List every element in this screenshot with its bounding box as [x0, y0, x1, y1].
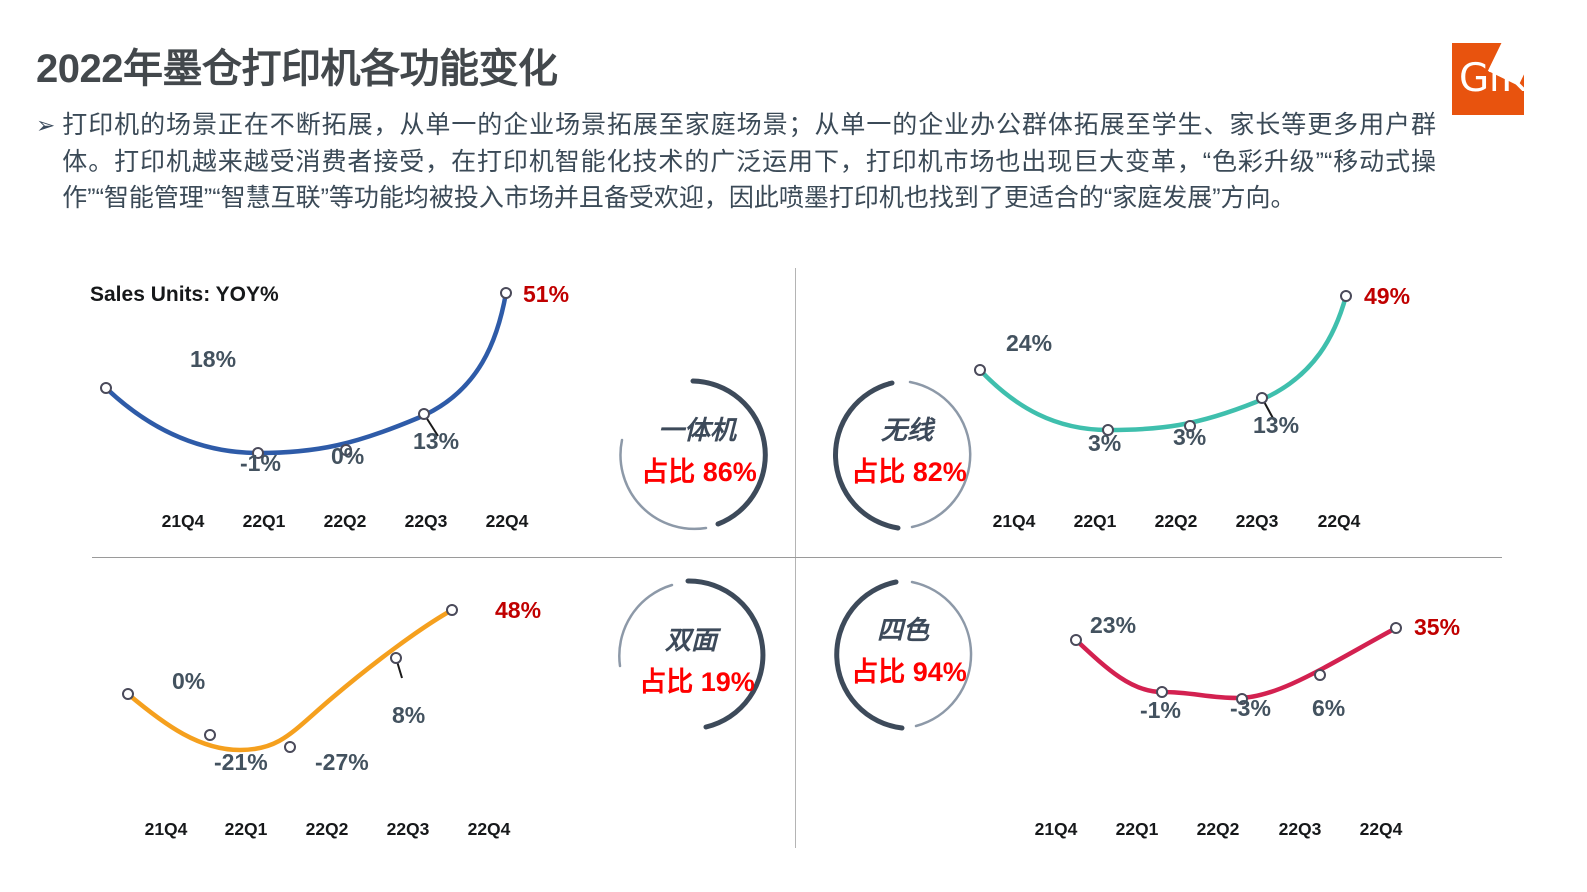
data-label-21q4: 0%	[172, 668, 205, 695]
x-axis-tick-0: 21Q4	[145, 819, 188, 840]
bullet-arrow-icon: ➢	[36, 107, 55, 143]
data-label-22q4: 48%	[495, 597, 541, 624]
chart-top-right: 24% 3% 3% 13% 49% 21Q4 22Q1 22Q2 22Q3 22…	[968, 278, 1418, 533]
data-point	[123, 689, 133, 699]
ring-label-name: 无线	[824, 410, 990, 447]
data-label-22q1: -1%	[1140, 697, 1181, 724]
x-axis-tick-4: 22Q4	[468, 819, 511, 840]
data-label-22q1: -1%	[240, 450, 281, 477]
data-point	[1257, 393, 1267, 403]
x-axis-tick-3: 22Q3	[387, 819, 430, 840]
data-label-22q2: -27%	[315, 749, 369, 776]
data-label-22q1: 3%	[1088, 430, 1121, 457]
ring-label-share: 占比 82%	[826, 450, 992, 489]
ring-callout-all-in-one: 一体机 占比 86%	[610, 372, 776, 538]
data-label-22q4: 35%	[1414, 614, 1460, 641]
data-label-22q4: 49%	[1364, 283, 1410, 310]
intro-paragraph-block: ➢ 打印机的场景正在不断拓展，从单一的企业场景拓展至家庭场景；从单一的企业办公群…	[36, 107, 1436, 217]
x-axis-tick-4: 22Q4	[1318, 511, 1361, 532]
quadrant-divider-vertical	[795, 268, 796, 848]
chart-bottom-right: 23% -1% -3% 6% 35% 21Q4 22Q1 22Q2 22Q3 2…	[1010, 592, 1460, 842]
ring-callout-duplex: 双面 占比 19%	[610, 572, 776, 738]
x-axis-tick-3: 22Q3	[405, 511, 448, 532]
data-point	[101, 383, 111, 393]
gfk-logo-text: GfK	[1459, 59, 1524, 98]
data-label-22q2: 3%	[1173, 424, 1206, 451]
x-axis-tick-2: 22Q2	[1155, 511, 1198, 532]
data-label-21q4: 18%	[190, 346, 236, 373]
ring-label-share: 占比 19%	[614, 660, 780, 699]
data-point	[285, 742, 295, 752]
data-label-22q2: 0%	[331, 443, 364, 470]
data-point	[501, 288, 511, 298]
x-axis-tick-4: 22Q4	[1360, 819, 1403, 840]
x-axis-tick-1: 22Q1	[225, 819, 268, 840]
x-axis-tick-2: 22Q2	[324, 511, 367, 532]
x-axis-tick-1: 22Q1	[1074, 511, 1117, 532]
data-point	[419, 409, 429, 419]
x-axis-tick-0: 21Q4	[1035, 819, 1078, 840]
data-label-22q2: -3%	[1230, 695, 1271, 722]
chart-bottom-left: 0% -21% -27% 8% 48% 21Q4 22Q1 22Q2 22Q3 …	[110, 592, 590, 842]
data-label-22q3: 6%	[1312, 695, 1345, 722]
page-title: 2022年墨仓打印机各功能变化	[36, 36, 557, 94]
quadrant-divider-horizontal	[92, 557, 1502, 558]
intro-paragraph-text: 打印机的场景正在不断拓展，从单一的企业场景拓展至家庭场景；从单一的企业办公群体拓…	[62, 107, 1436, 217]
data-label-22q3: 13%	[1253, 412, 1299, 439]
ring-callout-four-color: 四色 占比 94%	[822, 572, 988, 738]
data-label-22q1: -21%	[214, 749, 268, 776]
data-point	[391, 653, 401, 663]
ring-label-share: 占比 94%	[826, 650, 992, 689]
data-point	[1071, 635, 1081, 645]
x-axis-tick-0: 21Q4	[162, 511, 205, 532]
x-axis-tick-4: 22Q4	[486, 511, 529, 532]
x-axis-tick-2: 22Q2	[1197, 819, 1240, 840]
x-axis-tick-3: 22Q3	[1279, 819, 1322, 840]
gfk-logo: GfK	[1452, 43, 1524, 115]
data-point	[1157, 687, 1167, 697]
data-point	[1341, 291, 1351, 301]
ring-label-name: 四色	[820, 610, 986, 647]
x-axis-tick-0: 21Q4	[993, 511, 1036, 532]
data-point	[447, 605, 457, 615]
ring-label-share: 占比 86%	[616, 450, 782, 489]
chart-top-left: 18% -1% 0% 13% 51% 21Q4 22Q1 22Q2 22Q3 2…	[88, 278, 588, 533]
data-label-22q3: 13%	[413, 428, 459, 455]
data-point	[1391, 623, 1401, 633]
x-axis-tick-2: 22Q2	[306, 819, 349, 840]
x-axis-tick-1: 22Q1	[243, 511, 286, 532]
ring-label-name: 一体机	[614, 410, 780, 447]
data-point	[205, 730, 215, 740]
data-label-21q4: 24%	[1006, 330, 1052, 357]
data-point	[1315, 670, 1325, 680]
x-axis-tick-3: 22Q3	[1236, 511, 1279, 532]
data-label-21q4: 23%	[1090, 612, 1136, 639]
ring-callout-wireless: 无线 占比 82%	[822, 372, 988, 538]
ring-label-name: 双面	[608, 620, 774, 657]
series-line	[980, 296, 1346, 430]
data-label-22q3: 8%	[392, 702, 425, 729]
x-axis-tick-1: 22Q1	[1116, 819, 1159, 840]
data-label-22q4: 51%	[523, 281, 569, 308]
